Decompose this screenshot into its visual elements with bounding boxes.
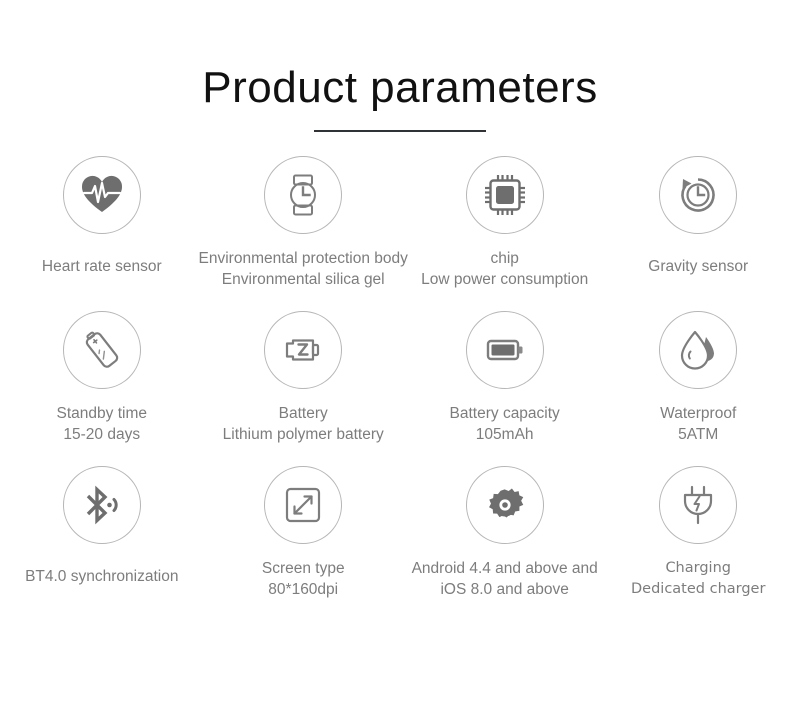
battery-bolt-icon: [264, 311, 342, 389]
parameter-label-line1: Battery capacity: [450, 405, 560, 422]
parameter-label-line1: chip: [490, 250, 518, 267]
watch-icon: [264, 156, 342, 234]
parameter-item-chip: chip Low power consumption: [408, 156, 602, 311]
battery-full-icon: [466, 311, 544, 389]
parameter-label: Environmental protection body Environmen…: [199, 248, 408, 290]
parameter-label-line2: Low power consumption: [421, 269, 588, 290]
parameter-label-line1: BT4.0 synchronization: [25, 568, 178, 585]
parameter-label-line2: 15-20 days: [57, 424, 147, 445]
water-drop-icon: [659, 311, 737, 389]
bluetooth-icon: [63, 466, 141, 544]
parameter-item-bluetooth: BT4.0 synchronization: [5, 466, 199, 621]
parameter-item-heart-rate: Heart rate sensor: [5, 156, 199, 311]
parameter-label-line1: Charging: [665, 560, 731, 576]
parameter-label: Battery capacity 105mAh: [450, 403, 560, 445]
parameter-item-gravity-sensor: Gravity sensor: [601, 156, 795, 311]
parameter-item-charging: Charging Dedicated charger: [601, 466, 795, 621]
parameter-label: Gravity sensor: [648, 256, 748, 277]
parameter-item-waterproof: Waterproof 5ATM: [601, 311, 795, 466]
parameter-item-screen-type: Screen type 80*160dpi: [199, 466, 408, 621]
parameter-label: Screen type 80*160dpi: [262, 558, 345, 600]
gear-icon: [466, 466, 544, 544]
screen-resize-icon: [264, 466, 342, 544]
page-title: Product parameters: [0, 66, 800, 110]
parameter-label: Android 4.4 and above and iOS 8.0 and ab…: [412, 558, 598, 600]
parameter-label: Heart rate sensor: [42, 256, 162, 277]
power-plug-icon: [659, 466, 737, 544]
parameter-label: BT4.0 synchronization: [25, 566, 178, 587]
parameter-label-line1: Standby time: [57, 405, 147, 422]
chip-icon: [466, 156, 544, 234]
parameter-label-line1: Heart rate sensor: [42, 258, 162, 275]
parameter-item-battery-type: Battery Lithium polymer battery: [199, 311, 408, 466]
parameter-label: Battery Lithium polymer battery: [223, 403, 384, 445]
title-underline-rule: [314, 130, 486, 132]
parameter-label-line1: Gravity sensor: [648, 258, 748, 275]
parameter-label-line2: Lithium polymer battery: [223, 424, 384, 445]
page-header: Product parameters: [0, 0, 800, 132]
gravity-sensor-icon: [659, 156, 737, 234]
parameter-item-standby-time: Standby time 15-20 days: [5, 311, 199, 466]
parameter-label-line2: iOS 8.0 and above: [412, 579, 598, 600]
parameter-item-os-compatibility: Android 4.4 and above and iOS 8.0 and ab…: [408, 466, 602, 621]
parameter-label-line2: 105mAh: [450, 424, 560, 445]
parameter-label-line1: Android 4.4 and above and: [412, 560, 598, 577]
parameters-grid: Heart rate sensor Environmental protecti…: [5, 156, 795, 621]
parameter-label-line2: 80*160dpi: [262, 579, 345, 600]
parameter-label-line1: Battery: [279, 405, 328, 422]
parameter-label: Waterproof 5ATM: [660, 403, 736, 445]
parameter-label: chip Low power consumption: [421, 248, 588, 290]
parameter-item-body-material: Environmental protection body Environmen…: [199, 156, 408, 311]
parameter-label-line2: 5ATM: [660, 424, 736, 445]
standby-battery-icon: [63, 311, 141, 389]
parameter-label: Standby time 15-20 days: [57, 403, 147, 445]
parameter-item-battery-capacity: Battery capacity 105mAh: [408, 311, 602, 466]
heart-rate-icon: [63, 156, 141, 234]
parameter-label-line1: Environmental protection body: [199, 250, 408, 267]
parameter-label-line1: Screen type: [262, 560, 345, 577]
parameter-label: Charging Dedicated charger: [631, 558, 765, 600]
parameter-label-line2: Environmental silica gel: [199, 269, 408, 290]
parameter-label-line1: Waterproof: [660, 405, 736, 422]
parameter-label-line2: Dedicated charger: [631, 579, 765, 600]
